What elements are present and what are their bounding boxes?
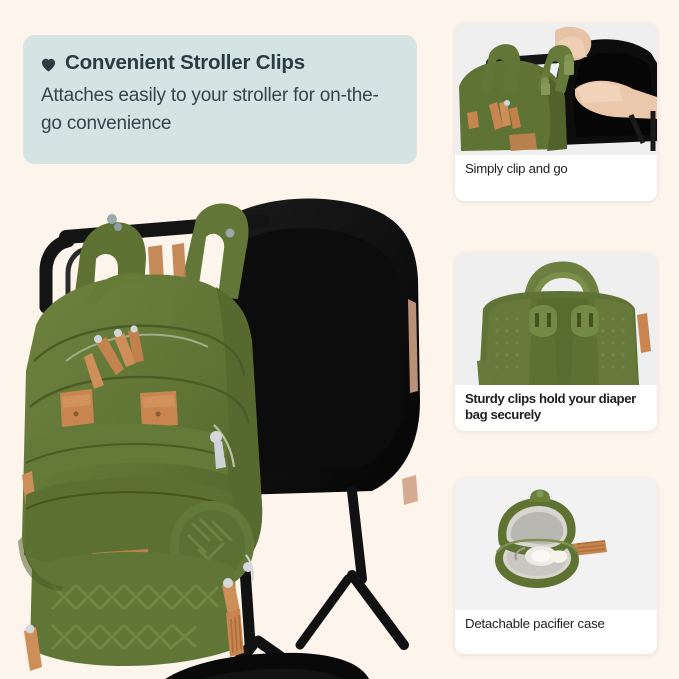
- card-photo-pacifier-case: [455, 478, 657, 610]
- left-column: Convenient Stroller Clips Attaches easil…: [0, 0, 440, 679]
- callout-title-row: Convenient Stroller Clips: [41, 51, 397, 75]
- detail-cards-column: Simply clip and go: [447, 0, 679, 679]
- feature-callout-box: Convenient Stroller Clips Attaches easil…: [23, 35, 417, 164]
- hero-product-photo: [0, 175, 440, 679]
- clip-and-go-illustration: [455, 23, 657, 155]
- detail-card-pacifier-case[interactable]: Detachable pacifier case: [455, 478, 657, 654]
- sturdy-clips-illustration: [455, 253, 657, 385]
- callout-body-text: Attaches easily to your stroller for on-…: [41, 82, 397, 138]
- hero-illustration: [0, 175, 440, 679]
- detail-card-simply-clip-and-go[interactable]: Simply clip and go: [455, 23, 657, 201]
- heart-icon: [41, 58, 56, 72]
- pacifier-case-illustration: [455, 478, 657, 610]
- card-caption-3: Detachable pacifier case: [455, 610, 657, 632]
- card-photo-sturdy-clips: [455, 253, 657, 385]
- detail-card-sturdy-clips[interactable]: Sturdy clips hold your diaper bag secure…: [455, 253, 657, 431]
- card-caption-1: Simply clip and go: [455, 155, 657, 177]
- card-photo-simply-clip-and-go: [455, 23, 657, 155]
- card-caption-2: Sturdy clips hold your diaper bag secure…: [455, 385, 657, 422]
- callout-title: Convenient Stroller Clips: [65, 51, 305, 75]
